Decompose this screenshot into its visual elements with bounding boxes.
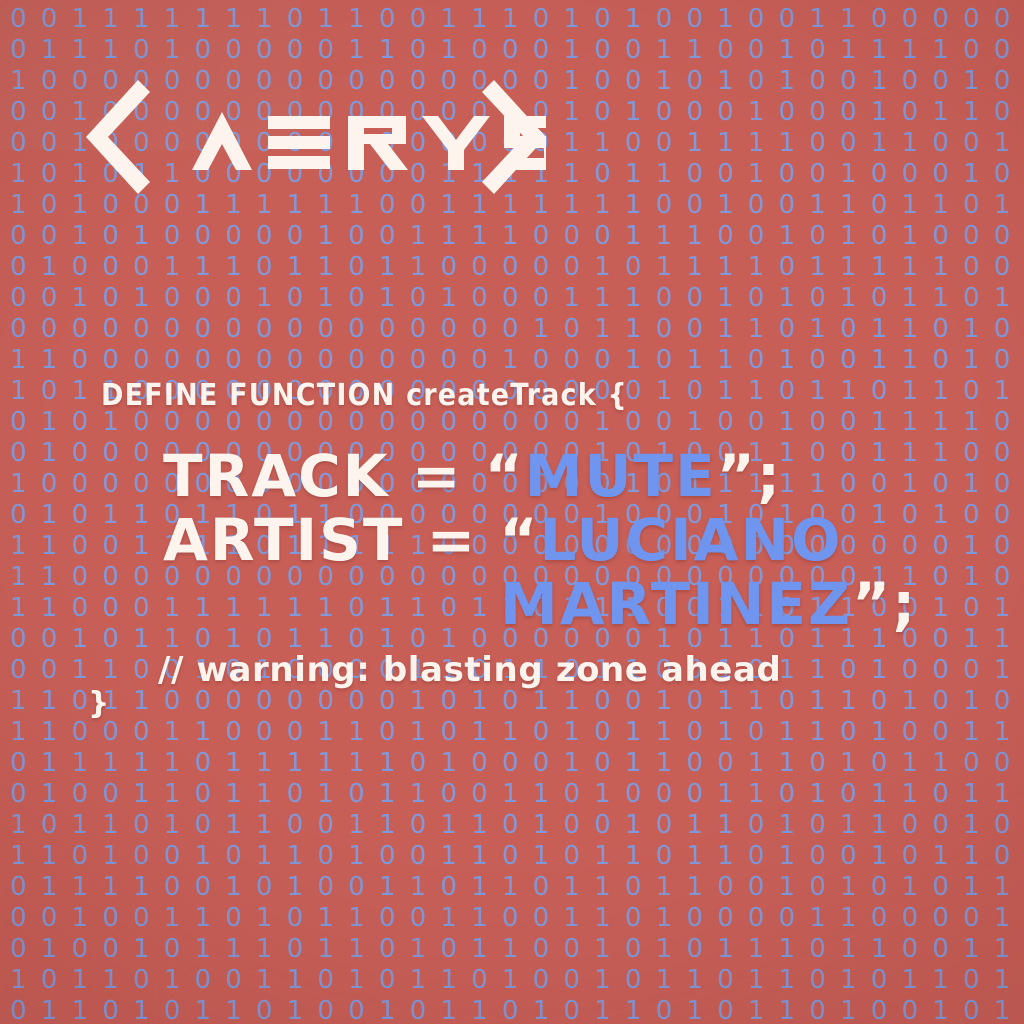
binary-row: 010010111011010110010101110110011 [0, 934, 1024, 965]
binary-row: 001111111011001110101001001100000 [0, 4, 1024, 35]
logo-left-bracket-icon [86, 80, 150, 194]
binary-row: 011111011111101000101100110101100 [0, 748, 1024, 779]
track-terminator: ; [757, 442, 782, 510]
logo-letter-r [348, 116, 408, 170]
binary-row: 110011110111110000000000000000010 [0, 531, 1024, 562]
track-key: TRACK = [163, 442, 485, 510]
binary-row: 011101000001101000100110010111100 [0, 35, 1024, 66]
album-cover: 0011111110110011101010010011000000111010… [0, 0, 1024, 1024]
binary-row: 001100101000011011011001011010001 [0, 655, 1024, 686]
artist-value-line2: MARTINEZ [500, 570, 852, 638]
binary-row: 010110110110000000010001010010100 [0, 500, 1024, 531]
binary-row: 110001111110110110111001101100101 [0, 593, 1024, 624]
artist-value-line1: LUCIANO [540, 506, 843, 574]
binary-row: 101101011001101101001011010110010 [0, 810, 1024, 841]
code-line-define: DEFINE FUNCTION createTrack { [101, 378, 628, 413]
binary-row: 001011010110101000000101101110011 [0, 624, 1024, 655]
logo-letter-e [268, 116, 330, 129]
code-line-artist-cont: MARTINEZ”; [500, 570, 917, 638]
binary-row: 110000000000000010001011010011010 [0, 345, 1024, 376]
binary-row: 101100000000000000000101101101101 [0, 376, 1024, 407]
binary-row: 011110010100110110110110010101011 [0, 872, 1024, 903]
code-line-track: TRACK = “MUTE”; [163, 442, 782, 510]
binary-row: 001010001010101000111001010101101 [0, 283, 1024, 314]
binary-row: 110100101101001101011011010010110 [0, 841, 1024, 872]
binary-row: 001001101011001100110100001100001 [0, 903, 1024, 934]
binary-row: 110000000000000000000000000011010 [0, 562, 1024, 593]
artist-open-quote: “ [499, 506, 539, 574]
binary-row: 010000000000000000010100110011100 [0, 438, 1024, 469]
binary-row: 000000000000000001011001101011010 [0, 314, 1024, 345]
track-value: MUTE [525, 442, 717, 510]
code-line-closing-brace: } [88, 686, 109, 721]
binary-row: 110001100011010110101101011010011 [0, 717, 1024, 748]
track-close-quote: ” [717, 442, 757, 510]
code-line-comment: // warning: blasting zone ahead [158, 650, 781, 690]
binary-row: 011010110100101101011010110100101 [0, 996, 1024, 1024]
binary-row: 110110000000010101100101101101010 [0, 686, 1024, 717]
logo-letter-a [192, 112, 252, 170]
aerys-logo [86, 78, 546, 196]
logo-letter-y [422, 116, 490, 170]
binary-row: 101101001101011010010110110101101 [0, 965, 1024, 996]
binary-row: 100000000000000000001011111001010 [0, 469, 1024, 500]
artist-close-quote: ” [852, 570, 892, 638]
binary-row: 010011011010110011010001101011011 [0, 779, 1024, 810]
artist-terminator: ; [892, 570, 917, 638]
artist-key: ARTIST = [163, 506, 499, 574]
binary-row: 010100000000000000010010010011110 [0, 407, 1024, 438]
code-line-artist: ARTIST = “LUCIANO [163, 506, 842, 574]
track-open-quote: “ [485, 442, 525, 510]
binary-row: 010001110110110000010111101111100 [0, 252, 1024, 283]
binary-row: 001010000010011110001110010101000 [0, 221, 1024, 252]
